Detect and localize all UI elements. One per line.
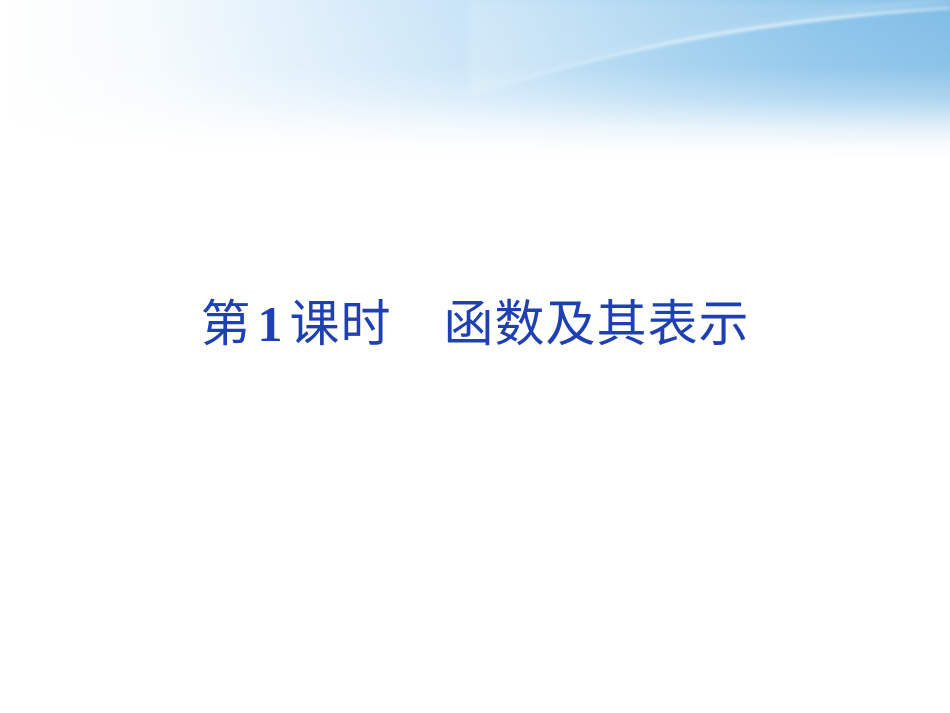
title-prefix: 第 xyxy=(201,296,252,352)
title-subject: 函数及其表示 xyxy=(444,296,750,352)
title-unit: 课时 xyxy=(290,296,392,352)
decorative-header-banner xyxy=(0,0,950,160)
presentation-slide: 第1课时函数及其表示 xyxy=(0,0,950,713)
title-lesson-number: 1 xyxy=(252,296,290,352)
slide-title: 第1课时函数及其表示 xyxy=(0,294,950,354)
slide-title-line: 第1课时函数及其表示 xyxy=(201,294,750,354)
